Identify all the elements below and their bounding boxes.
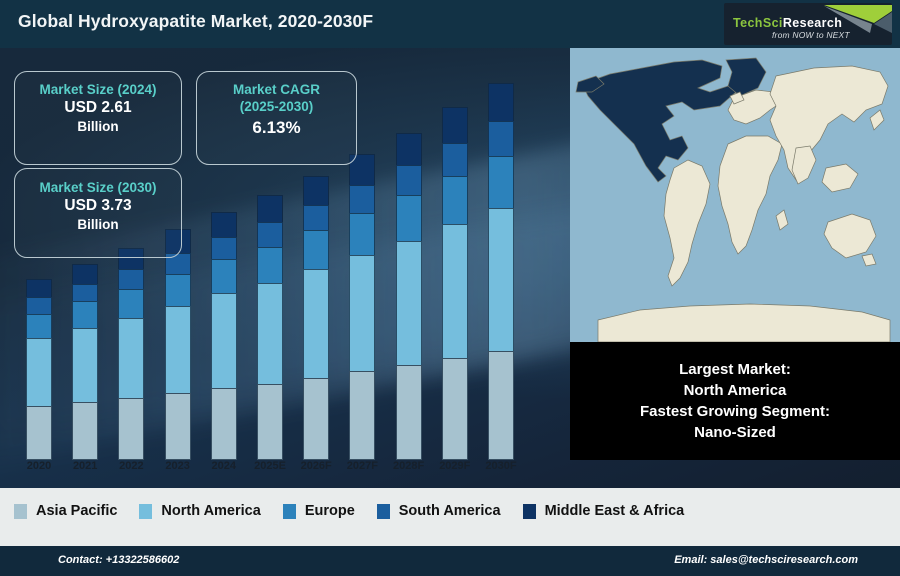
bar-segment-middle-east-africa — [442, 107, 468, 143]
bar-segment-europe — [165, 274, 191, 306]
bar-segment-europe — [26, 314, 52, 339]
callout-line-2: North America — [684, 380, 787, 401]
chart-legend: Asia PacificNorth AmericaEuropeSouth Ame… — [0, 488, 900, 534]
bar-segment-europe — [257, 247, 283, 283]
stat-card-market-size-2024: Market Size (2024) USD 2.61 Billion — [14, 71, 182, 165]
bar-segment-europe — [211, 259, 237, 293]
bar-segment-north-america — [349, 255, 375, 371]
bar-segment-north-america — [442, 224, 468, 358]
map-region-antarctica — [598, 304, 890, 342]
map-region-india — [792, 146, 816, 184]
logo-tagline: from NOW to NEXT — [772, 30, 850, 40]
bar-segment-north-america — [165, 306, 191, 394]
legend-label: Europe — [305, 503, 355, 519]
stat-unit: Billion — [15, 118, 181, 136]
legend-item-asia-pacific[interactable]: Asia Pacific — [14, 503, 117, 519]
bar-2021 — [72, 264, 98, 460]
bar-segment-middle-east-africa — [396, 133, 422, 166]
bar-segment-europe — [349, 213, 375, 255]
stat-title: Market CAGR — [197, 81, 356, 98]
map-region-australia — [824, 214, 876, 258]
legend-swatch — [139, 504, 152, 519]
bar-segment-middle-east-africa — [257, 195, 283, 222]
bar-segment-asia-pacific — [349, 371, 375, 460]
bar-segment-middle-east-africa — [211, 212, 237, 237]
stat-card-market-size-2030: Market Size (2030) USD 3.73 Billion — [14, 168, 182, 258]
callout-line-1: Largest Market: — [679, 359, 791, 380]
bar-segment-north-america — [396, 241, 422, 366]
bar-segment-europe — [118, 289, 144, 318]
bar-segment-asia-pacific — [211, 388, 237, 460]
bar-segment-asia-pacific — [303, 378, 329, 460]
bar-segment-europe — [442, 176, 468, 224]
footer-contact: Contact: +13322586602 — [58, 554, 179, 566]
bar-segment-north-america — [118, 318, 144, 398]
world-map — [570, 48, 900, 342]
legend-label: Asia Pacific — [36, 503, 117, 519]
bar-segment-europe — [488, 156, 514, 208]
footer-email: Email: sales@techsciresearch.com — [674, 554, 858, 566]
legend-swatch — [283, 504, 296, 519]
bar-segment-asia-pacific — [72, 402, 98, 460]
legend-swatch — [377, 504, 390, 519]
bar-segment-asia-pacific — [488, 351, 514, 460]
bar-segment-south-america — [211, 237, 237, 260]
bar-2030F — [488, 83, 514, 460]
bar-segment-middle-east-africa — [26, 279, 52, 298]
map-region-southeast-asia — [822, 164, 858, 192]
footer-bar: Contact: +13322586602 Email: sales@techs… — [0, 546, 900, 576]
legend-item-north-america[interactable]: North America — [139, 503, 260, 519]
bar-segment-asia-pacific — [26, 406, 52, 460]
chart-x-axis: 202020212022202320242025E2026F2027F2028F… — [0, 460, 570, 486]
bar-segment-south-america — [26, 297, 52, 313]
bar-segment-south-america — [118, 269, 144, 289]
legend-item-south-america[interactable]: South America — [377, 503, 501, 519]
bar-segment-north-america — [72, 328, 98, 402]
legend-label: Middle East & Africa — [545, 503, 685, 519]
infographic-page: Global Hydroxyapatite Market, 2020-2030F… — [0, 0, 900, 576]
stat-title: Market Size (2030) — [15, 179, 181, 196]
stat-unit: Billion — [15, 216, 181, 234]
map-region-asia — [770, 66, 888, 180]
bar-segment-europe — [72, 301, 98, 328]
bar-segment-south-america — [257, 222, 283, 247]
bar-segment-north-america — [303, 269, 329, 377]
legend-label: South America — [399, 503, 501, 519]
stat-subtitle: (2025-2030) — [197, 98, 356, 115]
map-region-south-america — [664, 160, 710, 286]
legend-label: North America — [161, 503, 260, 519]
callout-box: Largest Market: North America Fastest Gr… — [570, 342, 900, 460]
bar-segment-south-america — [488, 121, 514, 156]
bar-2024 — [211, 212, 237, 460]
world-map-svg — [570, 48, 900, 342]
logo-research-text: Research — [783, 16, 843, 30]
legend-item-europe[interactable]: Europe — [283, 503, 355, 519]
techsci-research-logo: TechSciResearch from NOW to NEXT — [724, 3, 892, 45]
bar-segment-south-america — [72, 284, 98, 302]
stat-value: USD 3.73 — [15, 196, 181, 216]
page-title: Global Hydroxyapatite Market, 2020-2030F — [18, 11, 373, 32]
header-bar: Global Hydroxyapatite Market, 2020-2030F… — [0, 0, 900, 48]
bar-2023 — [165, 229, 191, 460]
bar-segment-asia-pacific — [118, 398, 144, 460]
bar-segment-asia-pacific — [165, 393, 191, 460]
stat-card-market-cagr: Market CAGR (2025-2030) 6.13% — [196, 71, 357, 165]
bar-segment-asia-pacific — [257, 384, 283, 460]
bar-segment-south-america — [349, 185, 375, 213]
bar-2025E — [257, 195, 283, 460]
bar-segment-north-america — [488, 208, 514, 351]
bar-segment-asia-pacific — [396, 365, 422, 460]
legend-item-middle-east-africa[interactable]: Middle East & Africa — [523, 503, 685, 519]
bar-2029F — [442, 107, 468, 460]
bar-segment-north-america — [211, 293, 237, 388]
x-axis-label-2030F: 2030F — [471, 460, 531, 472]
logo-wordmark: TechSciResearch — [733, 16, 842, 30]
bar-2028F — [396, 133, 422, 461]
map-region-madagascar — [776, 210, 788, 230]
bar-segment-europe — [396, 195, 422, 240]
map-region-japan — [870, 110, 884, 130]
bar-segment-south-america — [396, 165, 422, 195]
map-region-north-america — [582, 60, 736, 182]
map-region-africa — [718, 136, 782, 254]
bar-segment-south-america — [303, 205, 329, 231]
bar-2027F — [349, 154, 375, 460]
bar-segment-asia-pacific — [442, 358, 468, 460]
bar-segment-middle-east-africa — [488, 83, 514, 121]
bar-2020 — [26, 279, 52, 460]
bar-segment-middle-east-africa — [303, 176, 329, 205]
bar-segment-europe — [303, 230, 329, 269]
bar-2026F — [303, 176, 329, 460]
stat-title: Market Size (2024) — [15, 81, 181, 98]
stat-value: USD 2.61 — [15, 98, 181, 118]
stat-value: 6.13% — [197, 118, 356, 138]
legend-swatch — [523, 504, 536, 519]
logo-tech-text: TechSci — [733, 16, 783, 30]
bar-segment-south-america — [442, 143, 468, 176]
callout-line-3: Fastest Growing Segment: — [640, 401, 830, 422]
callout-line-4: Nano-Sized — [694, 422, 776, 443]
bar-segment-middle-east-africa — [72, 264, 98, 284]
map-region-islands — [862, 254, 876, 266]
bar-segment-north-america — [257, 283, 283, 384]
bar-segment-north-america — [26, 338, 52, 406]
bar-2022 — [118, 248, 144, 460]
legend-swatch — [14, 504, 27, 519]
